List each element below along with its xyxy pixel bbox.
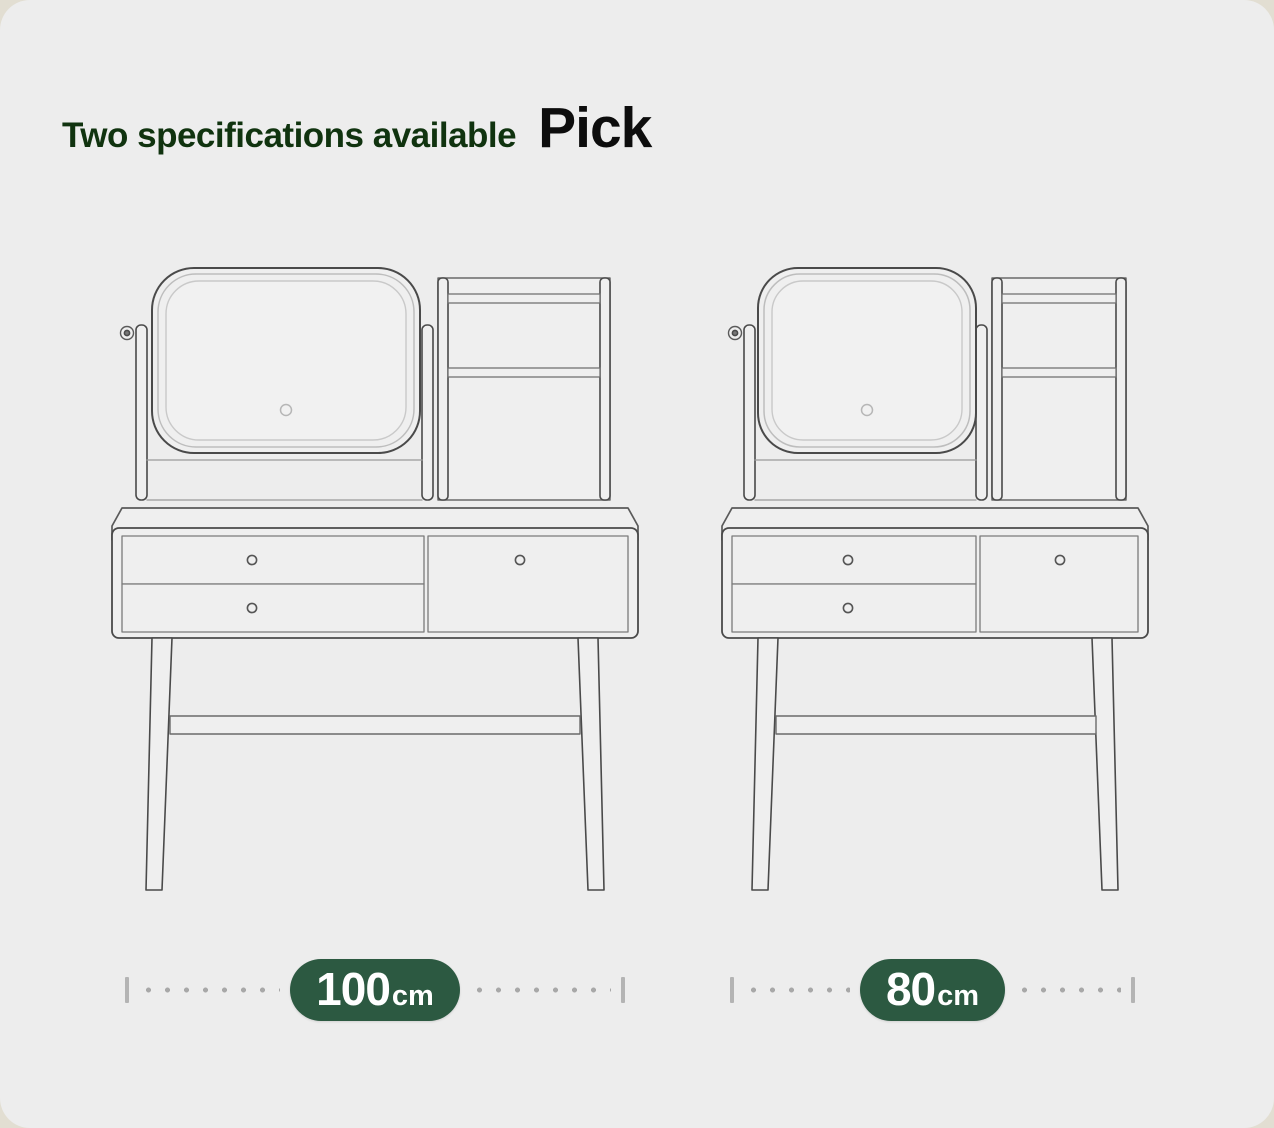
shelf-rail-top xyxy=(1002,294,1116,303)
dimension-cap-right xyxy=(1131,977,1135,1003)
stretcher-bar xyxy=(776,716,1096,734)
mirror-right-post xyxy=(422,325,433,500)
product-illustration-100cm[interactable] xyxy=(110,250,640,930)
dimension-line-100cm: 100 cm xyxy=(125,960,625,1020)
leg-left xyxy=(752,638,778,890)
product-illustration-80cm[interactable] xyxy=(720,250,1150,930)
drawer-lower-knob xyxy=(247,603,256,612)
mirror-left-post xyxy=(744,325,755,500)
size-badge-unit: cm xyxy=(937,982,979,1011)
dimension-dots-right xyxy=(1015,987,1121,993)
cabinet-door xyxy=(980,536,1138,632)
cabinet-door xyxy=(428,536,628,632)
drawer-lower xyxy=(122,584,424,632)
leg-left xyxy=(146,638,172,890)
dimension-dots-right xyxy=(470,987,611,993)
dimension-cap-left xyxy=(125,977,129,1003)
dimension-line-80cm: 80 cm xyxy=(730,960,1135,1020)
drawer-lower-knob xyxy=(843,603,852,612)
cabinet-door-knob xyxy=(1055,555,1064,564)
product-comparison-area xyxy=(0,250,1274,950)
drawer-upper xyxy=(732,536,976,584)
page-root: Two specifications available Pick xyxy=(0,0,1274,1128)
dimension-cap-right xyxy=(621,977,625,1003)
shelf-rail-middle xyxy=(1002,368,1116,377)
dimension-dots-left xyxy=(139,987,280,993)
page-title-accent: Pick xyxy=(538,100,651,157)
size-badge-80cm[interactable]: 80 cm xyxy=(860,959,1005,1021)
leg-right xyxy=(1092,638,1118,890)
mirror-left-post xyxy=(136,325,147,500)
drawer-upper xyxy=(122,536,424,584)
stretcher-bar xyxy=(170,716,580,734)
mirror-right-post xyxy=(976,325,987,500)
page-title-main: Two specifications available xyxy=(62,118,516,153)
size-badge-number: 100 xyxy=(316,966,390,1012)
shelf-unit-body xyxy=(438,278,610,500)
dressing-table-drawing-100 xyxy=(110,250,640,930)
dressing-table-drawing-80 xyxy=(720,250,1150,930)
drawer-lower xyxy=(732,584,976,632)
page-title: Two specifications available Pick xyxy=(62,100,651,157)
cabinet-door-knob xyxy=(515,555,524,564)
shelf-rail-top xyxy=(448,294,600,303)
drawer-upper-knob xyxy=(247,555,256,564)
drawer-upper-knob xyxy=(843,555,852,564)
shelf-rail-middle xyxy=(448,368,600,377)
leg-right xyxy=(578,638,604,890)
shelf-unit-body xyxy=(992,278,1126,500)
size-badge-100cm[interactable]: 100 cm xyxy=(290,959,460,1021)
dimension-dots-left xyxy=(744,987,850,993)
size-badge-number: 80 xyxy=(886,966,935,1012)
size-badge-unit: cm xyxy=(392,982,434,1011)
dimension-cap-left xyxy=(730,977,734,1003)
